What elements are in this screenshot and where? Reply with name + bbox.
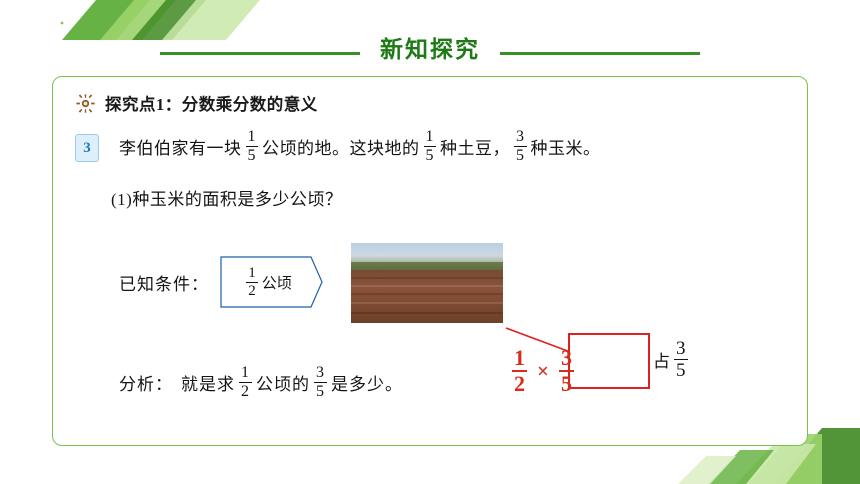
fraction-one-half-known: 1 2 — [246, 266, 258, 299]
problem-text-part-1: 李伯伯家有一块 — [119, 134, 242, 159]
fraction-denominator: 5 — [514, 147, 527, 164]
fraction-three-fifths-expression: 3 5 — [559, 347, 574, 395]
known-condition-unit: 公顷 — [262, 272, 292, 293]
photo-furrow — [351, 293, 503, 295]
problem-text-part-2: 公顷的地。这块地的 — [262, 134, 420, 159]
fraction-denominator: 2 — [512, 372, 527, 395]
fraction-one-fifth-b: 1 5 — [424, 129, 437, 164]
share-label: 占 — [653, 347, 670, 372]
corn-photo — [568, 333, 650, 389]
fraction-numerator: 1 — [424, 129, 437, 147]
fraction-denominator: 5 — [314, 383, 327, 400]
analysis-row: 分析： 就是求 1 2 公顷的 3 5 是多少。 — [119, 365, 403, 400]
share-label-row: 占 3 5 — [653, 339, 692, 380]
fraction-one-fifth-a: 1 5 — [246, 129, 259, 164]
sub-question-text: (1)种玉米的面积是多少公顷？ — [111, 185, 342, 210]
multiplication-operator: × — [537, 359, 549, 384]
fraction-denominator: 5 — [424, 147, 437, 164]
fraction-three-fifths-analysis: 3 5 — [314, 365, 327, 400]
ship-wheel-icon — [75, 93, 96, 114]
photo-furrow — [351, 277, 503, 279]
fraction-numerator: 3 — [514, 129, 527, 147]
analysis-part-1: 就是求 — [181, 370, 235, 395]
known-condition-value: 1 2 公顷 — [221, 255, 313, 309]
fraction-three-fifths-share: 3 5 — [674, 339, 688, 380]
analysis-label: 分析： — [119, 370, 173, 395]
corn-photo-background — [570, 335, 648, 387]
fraction-denominator: 5 — [559, 372, 574, 395]
fraction-one-half-expression: 1 2 — [512, 347, 527, 395]
fraction-numerator: 1 — [239, 365, 252, 383]
known-condition-row: 已知条件： 1 2 公顷 — [119, 255, 323, 309]
section-heading: 探究点1：分数乘分数的意义 — [75, 91, 318, 115]
fraction-three-fifths-a: 3 5 — [514, 129, 527, 164]
analysis-part-2: 公顷的 — [256, 370, 310, 395]
slide-root: 新知探究 — [0, 0, 860, 484]
fraction-one-half-analysis: 1 2 — [239, 365, 252, 400]
fraction-numerator: 1 — [512, 347, 527, 372]
photo-furrow — [351, 285, 503, 287]
problem-statement: 李伯伯家有一块 1 5 公顷的地。这块地的 1 5 种土豆， 3 5 种玉米。 — [119, 129, 601, 164]
fraction-numerator: 1 — [246, 129, 259, 147]
fraction-denominator: 5 — [246, 147, 259, 164]
known-condition-label: 已知条件： — [119, 270, 209, 295]
multiplication-expression: 1 2 × 3 5 — [508, 347, 578, 395]
fraction-numerator: 3 — [314, 365, 327, 383]
slide-title-bar: 新知探究 — [0, 30, 860, 68]
problem-text-part-4: 种玉米。 — [531, 134, 601, 159]
content-panel: 探究点1：分数乘分数的意义 3 李伯伯家有一块 1 5 公顷的地。这块地的 1 … — [52, 76, 808, 446]
fraction-denominator: 2 — [239, 383, 252, 400]
fraction-numerator: 3 — [559, 347, 574, 372]
problem-number-badge: 3 — [75, 134, 99, 162]
analysis-part-3: 是多少。 — [331, 370, 403, 395]
fraction-numerator: 1 — [246, 266, 258, 283]
photo-sky — [351, 243, 503, 264]
fraction-denominator: 5 — [674, 360, 688, 380]
section-heading-text: 探究点1：分数乘分数的意义 — [105, 91, 318, 115]
fraction-denominator: 2 — [246, 283, 258, 299]
known-condition-callout: 1 2 公顷 — [211, 255, 323, 309]
photo-furrow — [351, 312, 503, 314]
problem-text-part-3: 种土豆， — [440, 134, 510, 159]
fraction-numerator: 3 — [674, 339, 688, 360]
page-title: 新知探究 — [0, 30, 860, 64]
field-photo — [351, 243, 503, 323]
photo-furrow — [351, 302, 503, 304]
